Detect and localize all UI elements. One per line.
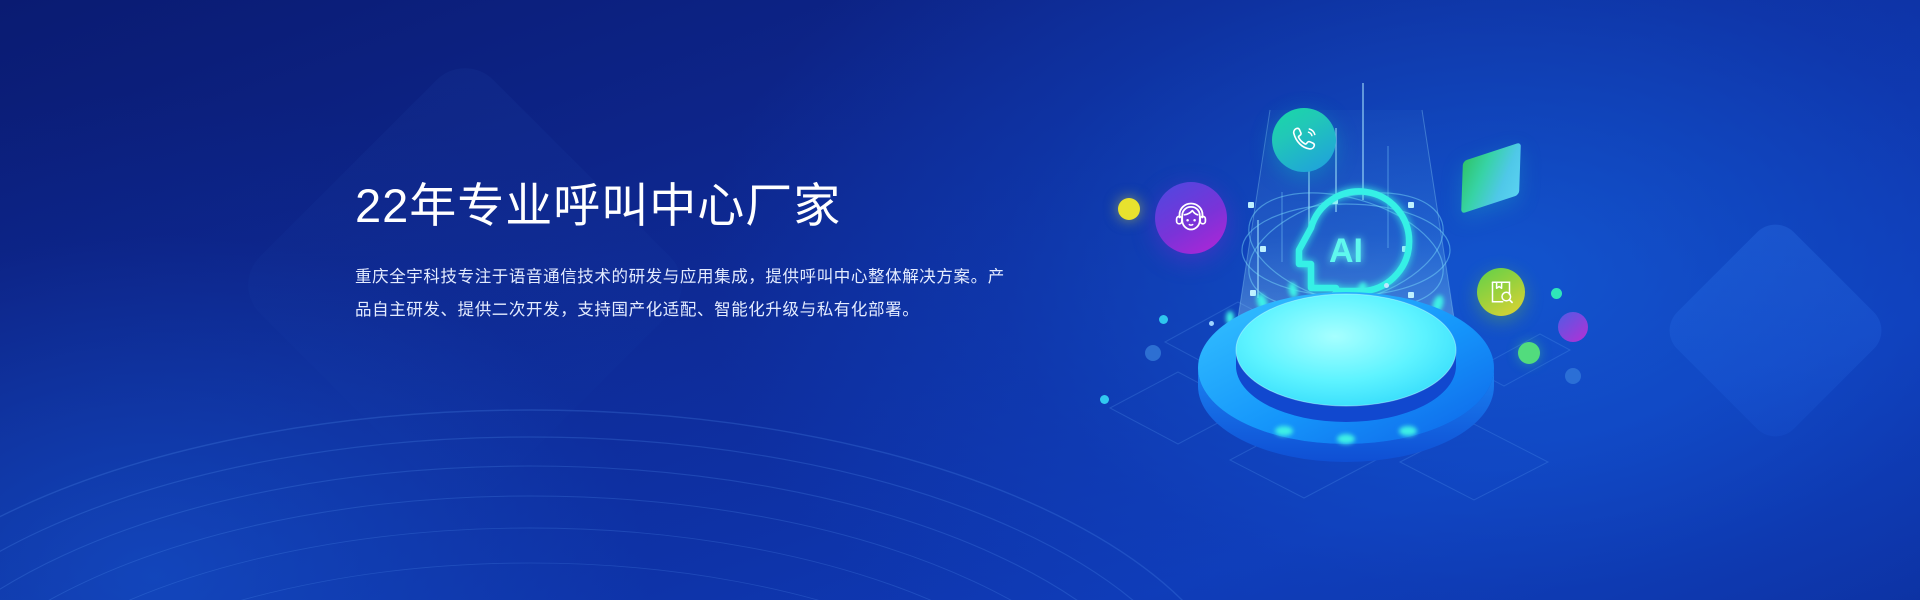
dot-blue-light-decor [1145,345,1161,361]
knowledge-search-icon [1488,279,1514,305]
knowledge-search-badge[interactable] [1477,268,1525,316]
dot-micro-two-decor [1209,321,1214,326]
phone-call-icon [1287,123,1321,157]
dot-purple-decor [1558,312,1588,342]
dot-green-decor [1518,342,1540,364]
dot-yellow-decor [1118,198,1140,220]
hero-copy: 22年专业呼叫中心厂家 重庆全宇科技专注于语音通信技术的研发与应用集成，提供呼叫… [355,178,1055,327]
ai-head-label: AI [1329,232,1363,270]
hero-description: 重庆全宇科技专注于语音通信技术的研发与应用集成，提供呼叫中心整体解决方案。产品自… [355,261,1010,327]
agent-headset-icon [1170,197,1212,239]
hero-banner: 22年专业呼叫中心厂家 重庆全宇科技专注于语音通信技术的研发与应用集成，提供呼叫… [0,0,1920,600]
dot-blue-decor [1565,368,1581,384]
dot-cyan-tiny-decor [1100,395,1109,404]
hologram-beam [1238,110,1454,318]
dot-cyan-small-decor [1159,315,1168,324]
phone-call-badge[interactable] [1272,108,1336,172]
dot-micro-one-decor [1384,283,1389,288]
page-title: 22年专业呼叫中心厂家 [355,178,1055,233]
dot-cyan-decor [1551,288,1562,299]
background-diamond-right [1659,214,1892,447]
agent-headset-badge[interactable] [1155,182,1227,254]
